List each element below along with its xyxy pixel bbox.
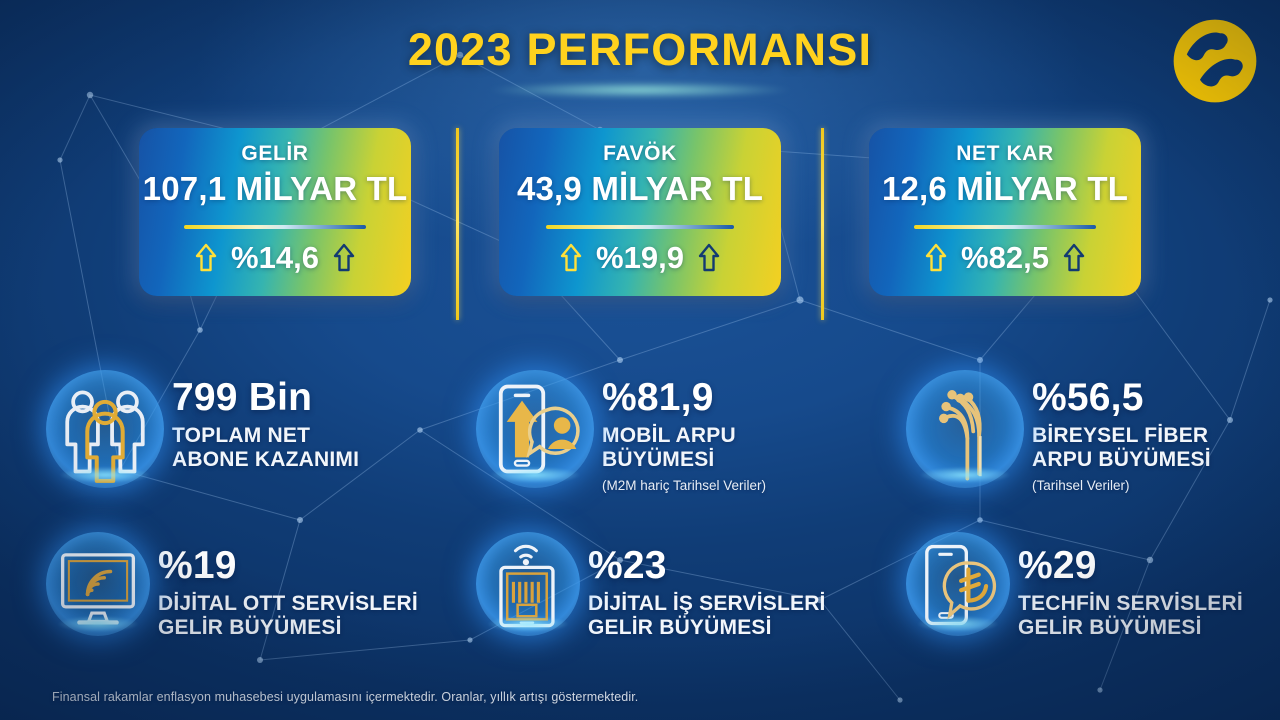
up-arrow-icon (1062, 242, 1086, 274)
stat-item-dijital-ott[interactable]: %19 DİJİTAL OTT SERVİSLERİ GELİR BÜYÜMES… (46, 532, 476, 662)
kpi-delta: %82,5 (924, 240, 1086, 276)
stat-description-line2: GELİR BÜYÜMESİ (1018, 616, 1243, 640)
stat-description: DİJİTAL OTT SERVİSLERİ GELİR BÜYÜMESİ (158, 592, 418, 641)
kpi-slot-gelir: GELİR 107,1 MİLYAR TL %14,6 (94, 128, 456, 296)
stat-icon-orb (46, 370, 164, 488)
stat-description-line2: ARPU BÜYÜMESİ (1032, 448, 1211, 472)
stat-text: 799 Bin TOPLAM NET ABONE KAZANIMI (172, 370, 359, 472)
stats-grid: 799 Bin TOPLAM NET ABONE KAZANIMI (46, 370, 1250, 662)
title-glow (490, 82, 790, 98)
stat-note: (M2M hariç Tarihsel Veriler) (602, 478, 766, 493)
kpi-delta-value: %82,5 (961, 240, 1049, 276)
up-arrow-icon (924, 242, 948, 274)
stat-item-techfin[interactable]: %29 TECHFİN SERVİSLERİ GELİR BÜYÜMESİ (906, 532, 1250, 662)
stat-item-mobil-arpu[interactable]: %81,9 MOBİL ARPU BÜYÜMESİ (M2M hariç Tar… (476, 370, 906, 532)
stat-description-line1: BİREYSEL FİBER (1032, 424, 1211, 448)
kpi-label: NET KAR (956, 142, 1054, 166)
stat-icon-orb (46, 532, 150, 636)
footnote-text: Finansal rakamlar enflasyon muhasebesi u… (52, 690, 638, 704)
stat-text: %19 DİJİTAL OTT SERVİSLERİ GELİR BÜYÜMES… (158, 532, 418, 640)
up-arrow-icon (194, 242, 218, 274)
up-arrow-icon (332, 242, 356, 274)
kpi-card-row: GELİR 107,1 MİLYAR TL %14,6 FAVÖK 43,9 (0, 128, 1280, 320)
stat-description-line1: MOBİL ARPU (602, 424, 766, 448)
stat-icon-orb (906, 532, 1010, 636)
kpi-card-net-kar[interactable]: NET KAR 12,6 MİLYAR TL %82,5 (869, 128, 1141, 296)
stat-description: TOPLAM NET ABONE KAZANIMI (172, 424, 359, 473)
kpi-delta: %14,6 (194, 240, 356, 276)
infographic-canvas: 2023 PERFORMANSI GELİR 107,1 MİLYAR TL %… (0, 0, 1280, 720)
stat-description: TECHFİN SERVİSLERİ GELİR BÜYÜMESİ (1018, 592, 1243, 641)
stat-icon-orb (906, 370, 1024, 488)
kpi-delta: %19,9 (559, 240, 721, 276)
stat-text: %56,5 BİREYSEL FİBER ARPU BÜYÜMESİ (Tari… (1032, 370, 1211, 493)
stat-description: DİJİTAL İŞ SERVİSLERİ GELİR BÜYÜMESİ (588, 592, 826, 641)
kpi-value: 107,1 MİLYAR TL (143, 170, 408, 208)
stat-value: %29 (1018, 546, 1243, 586)
stat-text: %29 TECHFİN SERVİSLERİ GELİR BÜYÜMESİ (1018, 532, 1243, 640)
stat-description-line2: BÜYÜMESİ (602, 448, 766, 472)
kpi-delta-value: %14,6 (231, 240, 319, 276)
kpi-card-gelir[interactable]: GELİR 107,1 MİLYAR TL %14,6 (139, 128, 411, 296)
stat-description-line1: TECHFİN SERVİSLERİ (1018, 592, 1243, 616)
up-arrow-icon (559, 242, 583, 274)
orb-base-glow (58, 616, 137, 632)
stat-description-line1: TOPLAM NET (172, 424, 359, 448)
kpi-value: 12,6 MİLYAR TL (882, 170, 1128, 208)
kpi-card-favok[interactable]: FAVÖK 43,9 MİLYAR TL %19,9 (499, 128, 781, 296)
stat-icon-orb (476, 532, 580, 636)
up-arrow-icon (697, 242, 721, 274)
stat-description-line1: DİJİTAL İŞ SERVİSLERİ (588, 592, 826, 616)
kpi-slot-favok: FAVÖK 43,9 MİLYAR TL %19,9 (459, 128, 821, 296)
stat-item-dijital-is-servisleri[interactable]: %23 DİJİTAL İŞ SERVİSLERİ GELİR BÜYÜMESİ (476, 532, 906, 662)
stat-description-line2: ABONE KAZANIMI (172, 448, 359, 472)
stat-description: BİREYSEL FİBER ARPU BÜYÜMESİ (1032, 424, 1211, 473)
stat-value: %56,5 (1032, 378, 1211, 418)
kpi-divider-rule (914, 225, 1095, 229)
stat-value: %81,9 (602, 378, 766, 418)
stat-note: (Tarihsel Veriler) (1032, 478, 1211, 493)
stat-value: 799 Bin (172, 378, 359, 418)
kpi-slot-net-kar: NET KAR 12,6 MİLYAR TL %82,5 (824, 128, 1186, 296)
stat-description-line2: GELİR BÜYÜMESİ (158, 616, 418, 640)
kpi-label: GELİR (241, 142, 308, 166)
orb-base-glow (488, 616, 567, 632)
stat-icon-orb (476, 370, 594, 488)
kpi-divider-rule (184, 225, 365, 229)
kpi-divider-rule (546, 225, 735, 229)
stat-item-bireysel-fiber-arpu[interactable]: %56,5 BİREYSEL FİBER ARPU BÜYÜMESİ (Tari… (906, 370, 1250, 532)
stat-description-line1: DİJİTAL OTT SERVİSLERİ (158, 592, 418, 616)
stat-item-toplam-net-abone[interactable]: 799 Bin TOPLAM NET ABONE KAZANIMI (46, 370, 476, 532)
kpi-value: 43,9 MİLYAR TL (517, 170, 763, 208)
stat-description-line2: GELİR BÜYÜMESİ (588, 616, 826, 640)
kpi-delta-value: %19,9 (596, 240, 684, 276)
stat-description: MOBİL ARPU BÜYÜMESİ (602, 424, 766, 473)
stat-value: %19 (158, 546, 418, 586)
stat-value: %23 (588, 546, 826, 586)
page-title: 2023 PERFORMANSI (0, 24, 1280, 76)
kpi-label: FAVÖK (603, 142, 677, 166)
stat-text: %23 DİJİTAL İŞ SERVİSLERİ GELİR BÜYÜMESİ (588, 532, 826, 640)
orb-base-glow (918, 616, 997, 632)
stat-text: %81,9 MOBİL ARPU BÜYÜMESİ (M2M hariç Tar… (602, 370, 766, 493)
